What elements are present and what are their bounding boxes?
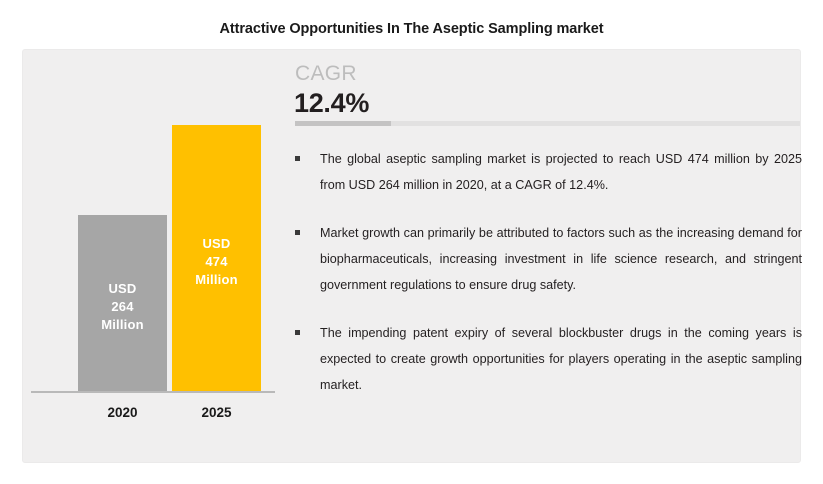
axis-tick-2020: 2020 [78,405,167,420]
bar-2020-label-line1: USD [78,280,167,298]
list-item-text: Market growth can primarily be attribute… [320,226,802,292]
bar-2020-label-line3: Million [78,316,167,334]
list-item: Market growth can primarily be attribute… [293,220,802,298]
bullet-list: The global aseptic sampling market is pr… [293,146,802,420]
cagr-divider [295,121,800,126]
list-item: The impending patent expiry of several b… [293,320,802,398]
infographic-panel: USD 264 Million USD 474 Million 2020 202… [22,49,801,463]
cagr-value: 12.4% [294,88,369,119]
list-item-text: The impending patent expiry of several b… [320,326,802,392]
bar-2025[interactable]: USD 474 Million [172,125,261,392]
bar-2020[interactable]: USD 264 Million [78,215,167,392]
bar-chart: USD 264 Million USD 474 Million 2020 202… [23,50,283,464]
content-area: CAGR 12.4% The global aseptic sampling m… [293,50,802,464]
cagr-divider-accent [295,121,391,126]
bullet-square-icon [295,230,300,235]
cagr-label: CAGR [295,62,357,86]
x-axis-line [31,391,275,393]
axis-tick-2025: 2025 [172,405,261,420]
bar-2025-label-line3: Million [172,271,261,289]
bullet-square-icon [295,330,300,335]
bar-2025-label: USD 474 Million [172,235,261,289]
bar-2020-label-line2: 264 [78,298,167,316]
bar-2025-label-line1: USD [172,235,261,253]
list-item-text: The global aseptic sampling market is pr… [320,152,802,192]
list-item: The global aseptic sampling market is pr… [293,146,802,198]
page-title: Attractive Opportunities In The Aseptic … [0,21,823,37]
bar-2020-label: USD 264 Million [78,280,167,334]
bullet-square-icon [295,156,300,161]
bar-2025-label-line2: 474 [172,253,261,271]
